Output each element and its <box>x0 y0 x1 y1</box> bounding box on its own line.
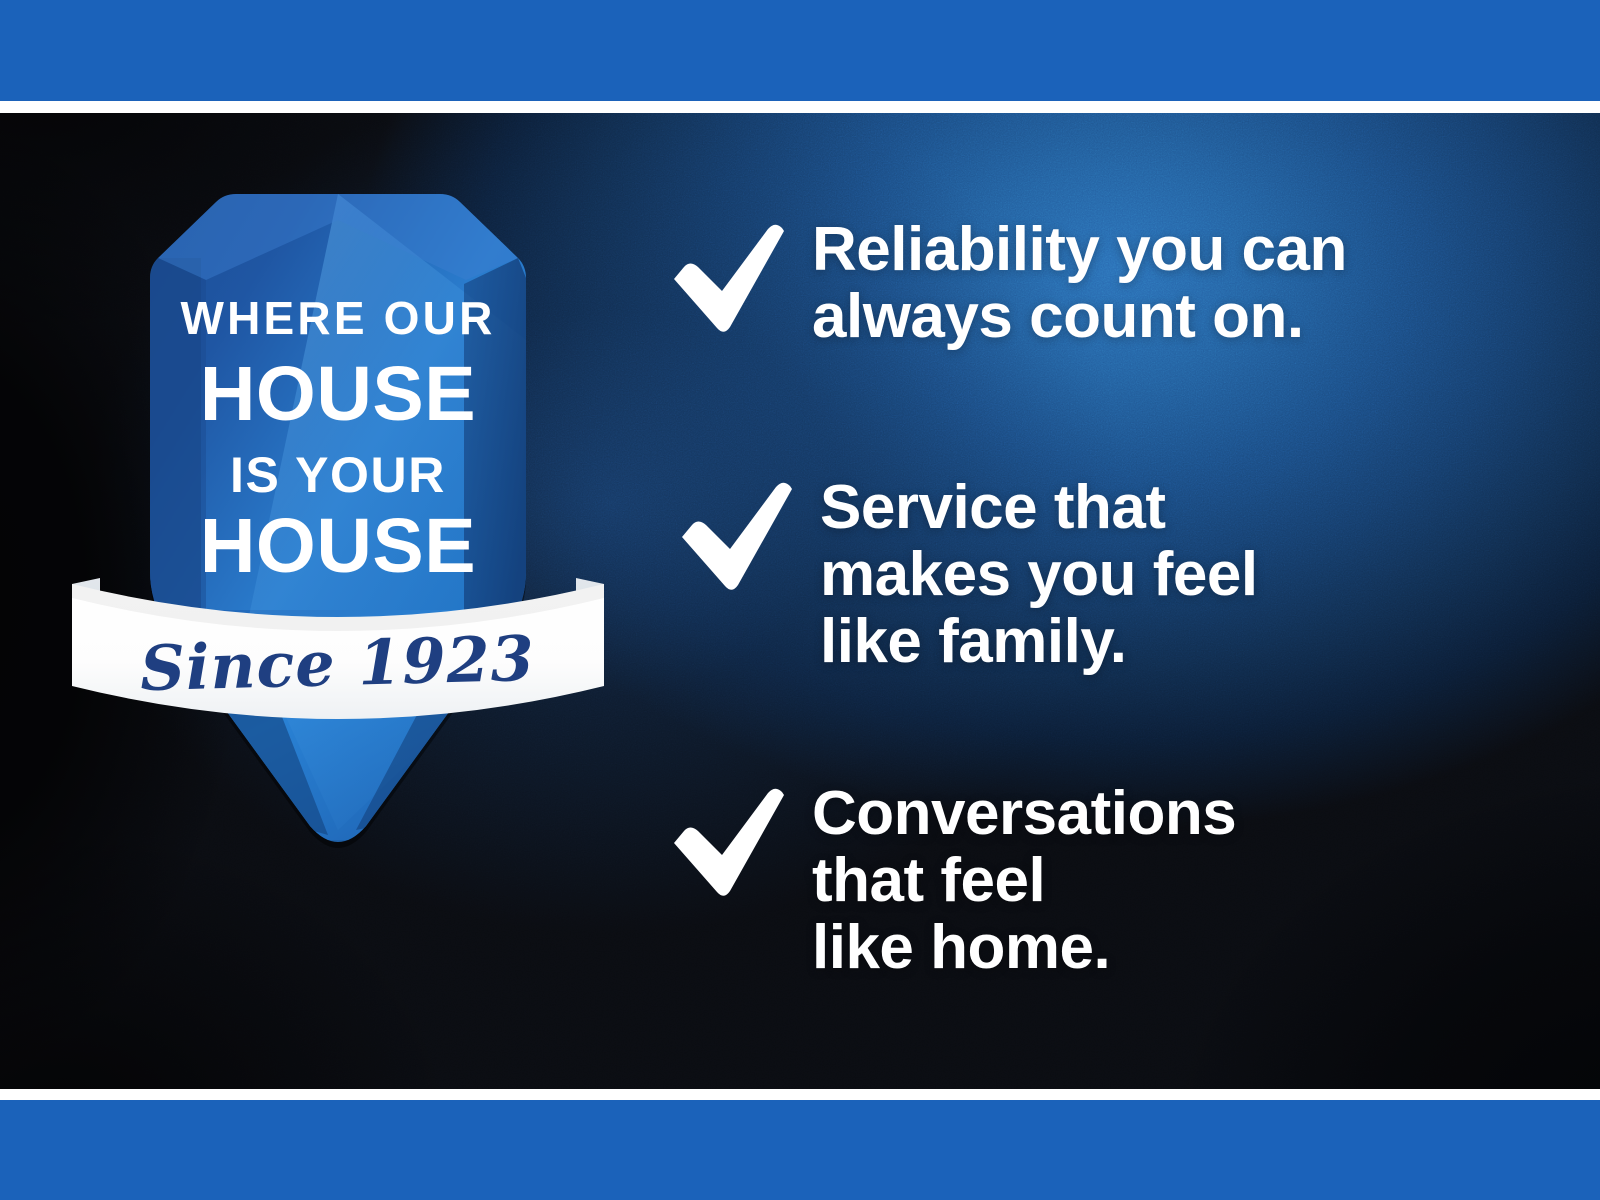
logo-line-4: HOUSE <box>200 503 476 589</box>
bottom-divider <box>0 1089 1600 1100</box>
benefit-text: Reliability you can always count on. <box>812 217 1347 351</box>
top-brand-bar <box>0 0 1600 101</box>
benefit-text: Service that makes you feel like family. <box>820 475 1258 676</box>
benefit-text: Conversations that feel like home. <box>812 781 1236 982</box>
benefit-item: Reliability you can always count on. <box>668 217 1347 351</box>
logo-banner-text: Since 1923 <box>139 622 536 705</box>
checkmark-icon <box>668 223 786 335</box>
bottom-brand-bar <box>0 1100 1600 1200</box>
top-divider <box>0 101 1600 113</box>
benefits-list: Reliability you can always count on. Ser… <box>668 113 1528 1089</box>
logo-line-2: HOUSE <box>200 351 476 437</box>
company-logo: WHERE OUR HOUSE IS YOUR HOUSE Since 1923 <box>66 180 610 840</box>
logo-line-1: WHERE OUR <box>180 292 495 344</box>
promo-graphic: WHERE OUR HOUSE IS YOUR HOUSE Since 1923 <box>0 0 1600 1200</box>
benefit-item: Service that makes you feel like family. <box>676 475 1258 676</box>
checkmark-icon <box>676 481 794 593</box>
benefit-item: Conversations that feel like home. <box>668 781 1236 982</box>
logo-line-3: IS YOUR <box>230 447 446 503</box>
checkmark-icon <box>668 787 786 899</box>
